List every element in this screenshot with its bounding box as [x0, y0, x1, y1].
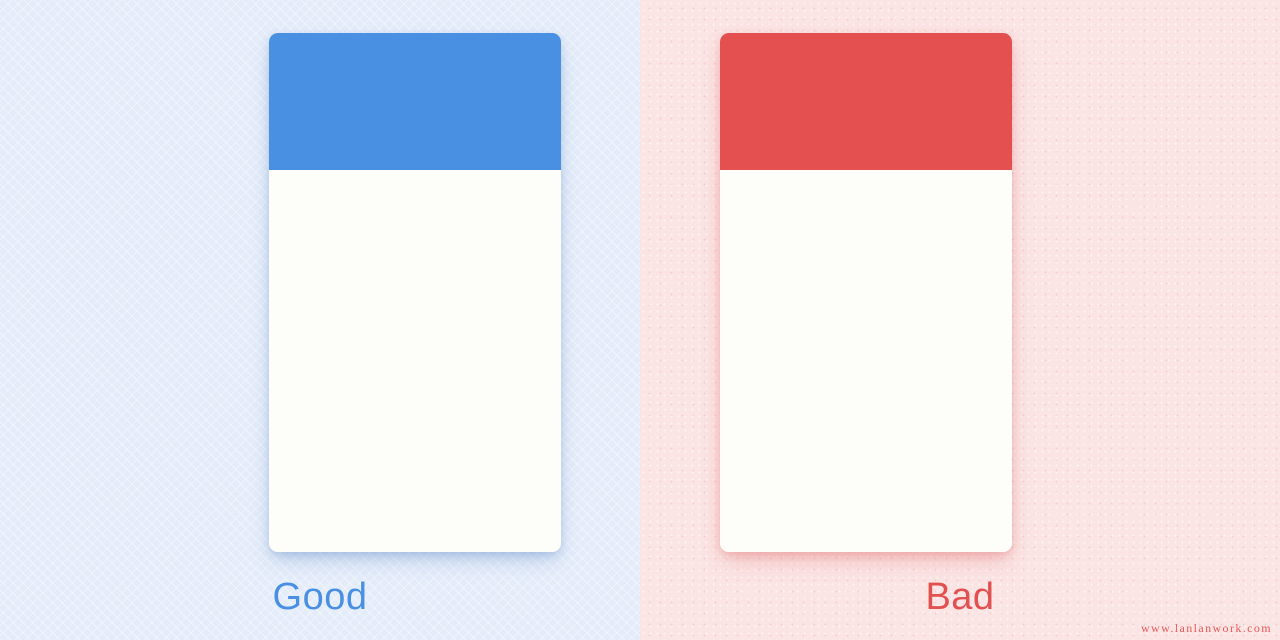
- panel-bad: Bad www.lanlanwork.com: [640, 0, 1280, 640]
- card-body-good: [269, 170, 561, 552]
- card-header-image-placeholder-bad: [720, 33, 1012, 170]
- watermark-url: www.lanlanwork.com: [1141, 621, 1272, 636]
- caption-bad: Bad: [640, 573, 1280, 621]
- comparison-stage: Good Bad www.lanlanwork.com: [0, 0, 1280, 640]
- card-header-image-placeholder-good: [269, 33, 561, 170]
- card-body-bad: [720, 170, 1012, 552]
- card-good-example[interactable]: [269, 33, 561, 552]
- card-bad-example[interactable]: [720, 33, 1012, 552]
- caption-good: Good: [0, 573, 640, 621]
- panel-good: Good: [0, 0, 640, 640]
